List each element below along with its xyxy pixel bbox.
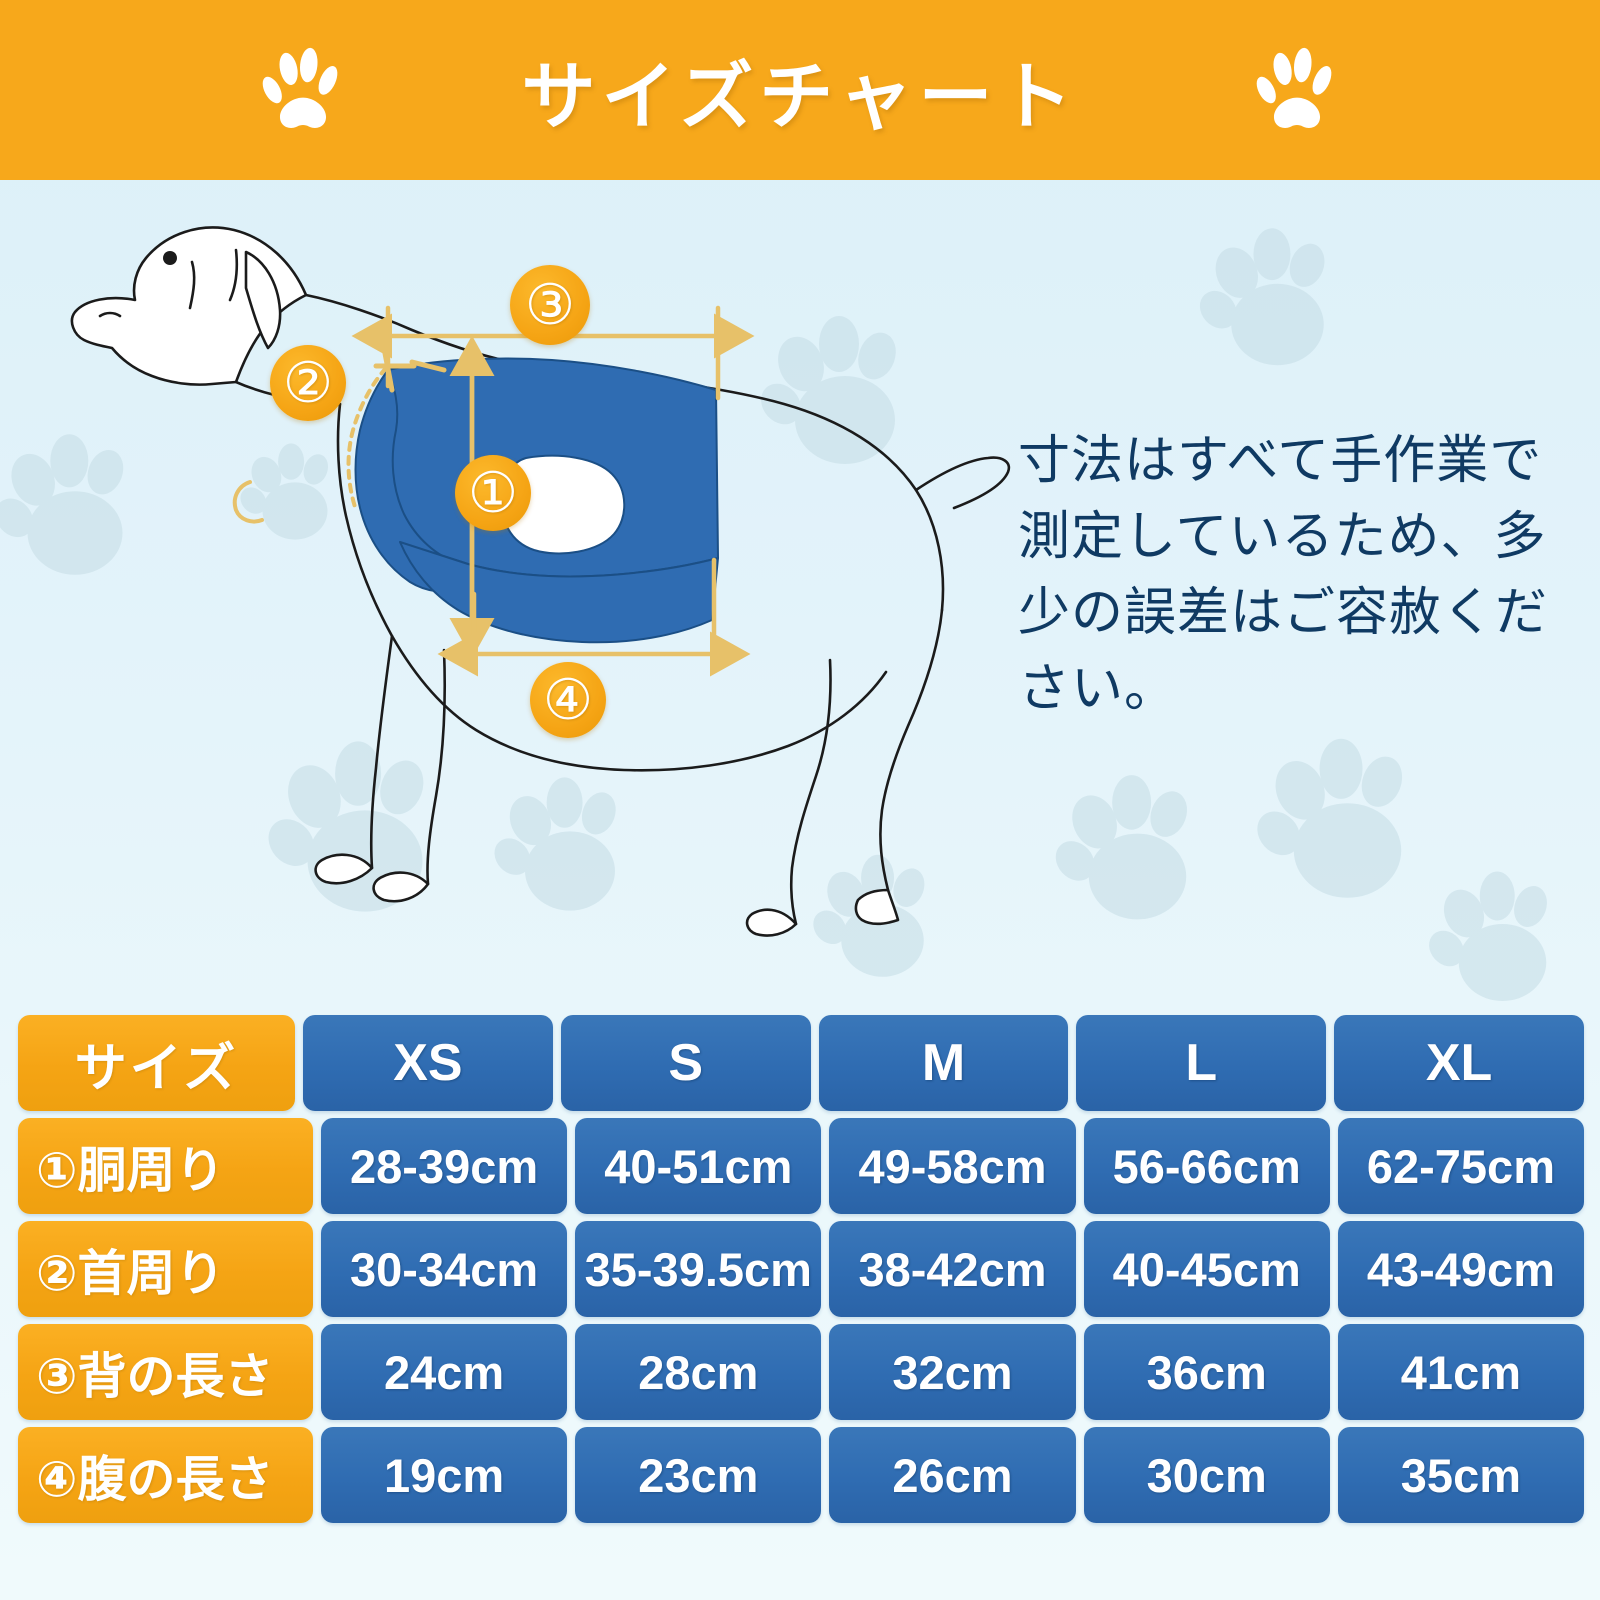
table-row: ④腹の長さ 19cm 23cm 26cm 30cm 35cm: [18, 1427, 1584, 1523]
table-row: ③背の長さ 24cm 28cm 32cm 36cm 41cm: [18, 1324, 1584, 1420]
cell-back-xs: 24cm: [321, 1324, 567, 1420]
paw-print-icon: [1249, 42, 1345, 138]
column-header-xs: XS: [303, 1015, 553, 1111]
dog-vest: [356, 358, 719, 642]
cell-neck-l: 40-45cm: [1084, 1221, 1330, 1317]
row-label-neck-girth: ②首周り: [18, 1221, 313, 1317]
table-header-row: サイズ XS S M L XL: [18, 1015, 1584, 1111]
column-header-size: サイズ: [18, 1015, 295, 1111]
page-title: サイズチャート: [521, 37, 1078, 144]
cell-chest-l: 56-66cm: [1084, 1118, 1330, 1214]
size-chart-page: サイズチャート: [0, 0, 1600, 1600]
cell-belly-xl: 35cm: [1338, 1427, 1584, 1523]
size-chart-table: サイズ XS S M L XL ①胴周り 28-39cm 40-51cm 49-…: [18, 1015, 1584, 1523]
cell-back-m: 32cm: [829, 1324, 1075, 1420]
measure-badge-neck-girth: ②: [270, 345, 346, 421]
collar-loop: [235, 482, 262, 522]
cell-back-s: 28cm: [575, 1324, 821, 1420]
table-row: ②首周り 30-34cm 35-39.5cm 38-42cm 40-45cm 4…: [18, 1221, 1584, 1317]
row-label-back-length: ③背の長さ: [18, 1324, 313, 1420]
table-row: ①胴周り 28-39cm 40-51cm 49-58cm 56-66cm 62-…: [18, 1118, 1584, 1214]
paw-watermark-icon: [1185, 195, 1370, 380]
paw-print-icon: [255, 42, 351, 138]
cell-belly-l: 30cm: [1084, 1427, 1330, 1523]
measure-badge-back-length: ③: [510, 265, 590, 345]
row-label-belly-length: ④腹の長さ: [18, 1427, 313, 1523]
row-label-chest-girth: ①胴周り: [18, 1118, 313, 1214]
page-header: サイズチャート: [0, 0, 1600, 180]
column-header-s: S: [561, 1015, 811, 1111]
cell-belly-m: 26cm: [829, 1427, 1075, 1523]
measure-badge-chest-girth: ①: [455, 455, 531, 531]
paw-watermark-icon: [1415, 840, 1590, 1015]
paw-watermark-icon: [1040, 740, 1235, 935]
cell-neck-s: 35-39.5cm: [575, 1221, 821, 1317]
cell-chest-m: 49-58cm: [829, 1118, 1075, 1214]
cell-back-xl: 41cm: [1338, 1324, 1584, 1420]
cell-neck-m: 38-42cm: [829, 1221, 1075, 1317]
cell-belly-xs: 19cm: [321, 1427, 567, 1523]
measurement-disclaimer: 寸法はすべて手作業で測定しているため、多少の誤差はご容赦ください。: [1018, 424, 1558, 728]
column-header-xl: XL: [1334, 1015, 1584, 1111]
cell-chest-xl: 62-75cm: [1338, 1118, 1584, 1214]
cell-back-l: 36cm: [1084, 1324, 1330, 1420]
column-header-m: M: [819, 1015, 1069, 1111]
cell-neck-xs: 30-34cm: [321, 1221, 567, 1317]
column-header-l: L: [1076, 1015, 1326, 1111]
cell-neck-xl: 43-49cm: [1338, 1221, 1584, 1317]
cell-belly-s: 23cm: [575, 1427, 821, 1523]
cell-chest-xs: 28-39cm: [321, 1118, 567, 1214]
cell-chest-s: 40-51cm: [575, 1118, 821, 1214]
measure-badge-belly-length: ④: [530, 662, 606, 738]
